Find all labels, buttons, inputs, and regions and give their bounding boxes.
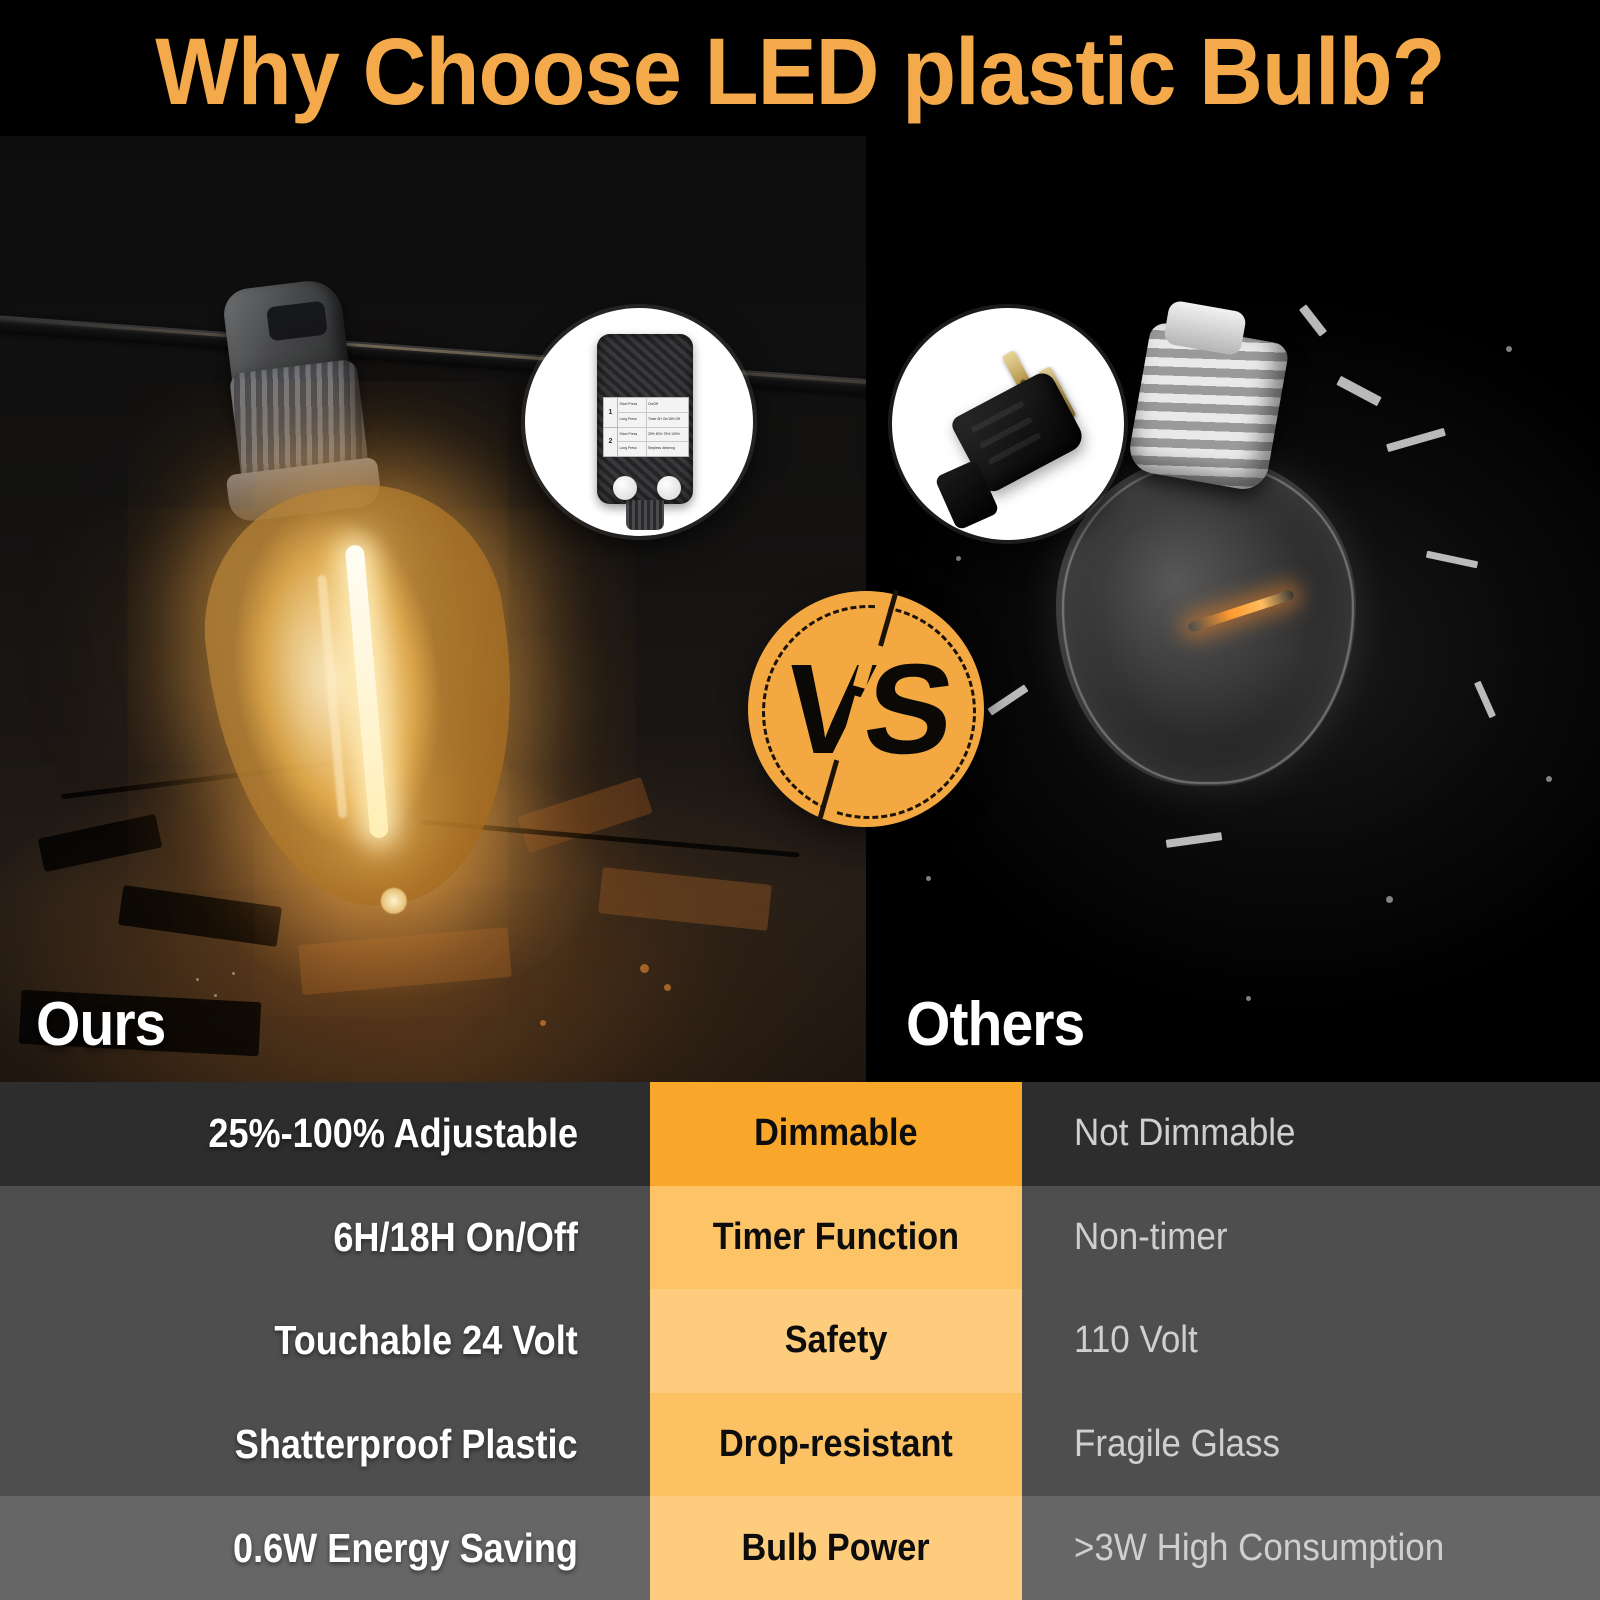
feature-cell: Safety xyxy=(650,1289,1022,1393)
remote-label-table: 1 2 Short Press On/Off Long Press Timer … xyxy=(603,397,689,457)
ember-dot xyxy=(640,964,649,973)
ours-label: Ours xyxy=(36,989,165,1060)
feature-cell: Bulb Power xyxy=(650,1496,1022,1600)
remote-button-2[interactable] xyxy=(657,476,681,500)
glass-dust xyxy=(956,556,961,561)
remote-press-action: Stepless dimming xyxy=(647,442,689,456)
ours-photo-panel: Ours xyxy=(0,136,866,1082)
table-row: 0.6W Energy Saving Bulb Power >3W High C… xyxy=(0,1496,1600,1600)
others-value: Non-timer xyxy=(1074,1216,1227,1259)
remote-press-action: On/Off xyxy=(647,398,689,412)
remote-button-mark-2: 2 xyxy=(666,463,669,469)
glass-dust xyxy=(1546,776,1552,782)
remote-button-marks: 1 2 xyxy=(603,458,689,474)
ember-dot xyxy=(540,1020,546,1026)
table-row: 25%-100% Adjustable Dimmable Not Dimmabl… xyxy=(0,1082,1600,1186)
table-row: 6H/18H On/Off Timer Function Non-timer xyxy=(0,1186,1600,1290)
ours-value: 6H/18H On/Off xyxy=(333,1214,578,1261)
table-row: Touchable 24 Volt Safety 110 Volt xyxy=(0,1289,1600,1393)
feature-label: Safety xyxy=(785,1319,888,1362)
feature-label: Timer Function xyxy=(713,1216,959,1259)
two-prong-plug-inset xyxy=(892,308,1124,540)
vs-label: VS xyxy=(731,591,1001,827)
vs-badge: VS xyxy=(748,591,984,827)
remote-press-type: Short Press xyxy=(618,398,647,412)
dust-speck xyxy=(232,972,235,975)
others-cell: >3W High Consumption xyxy=(1022,1496,1600,1600)
feature-label: Dimmable xyxy=(754,1112,917,1155)
remote-label-row: Long Press Stepless dimming xyxy=(618,442,688,456)
feature-label: Drop-resistant xyxy=(719,1423,953,1466)
ours-value: Shatterproof Plastic xyxy=(235,1421,578,1468)
remote-press-type: Long Press xyxy=(618,413,647,427)
glass-dust xyxy=(1386,896,1393,903)
comparison-table: 25%-100% Adjustable Dimmable Not Dimmabl… xyxy=(0,1082,1600,1600)
remote-label-numbers: 1 2 xyxy=(604,398,618,456)
remote-label-rows: Short Press On/Off Long Press Timer 6H O… xyxy=(618,398,688,456)
dust-speck xyxy=(196,978,199,981)
others-value: >3W High Consumption xyxy=(1074,1527,1444,1570)
feature-cell: Timer Function xyxy=(650,1186,1022,1290)
comparison-stage: Ours Others xyxy=(0,136,1600,1082)
remote-control-inset: 1 2 Short Press On/Off Long Press Timer … xyxy=(525,308,753,536)
others-value: Fragile Glass xyxy=(1074,1423,1280,1466)
remote-label-num-1: 1 xyxy=(604,398,617,428)
ours-cell: 25%-100% Adjustable xyxy=(0,1082,650,1186)
ours-cell: 6H/18H On/Off xyxy=(0,1186,650,1290)
ours-value: 25%-100% Adjustable xyxy=(208,1110,578,1157)
remote-button-mark-1: 1 xyxy=(623,463,626,469)
remote-label-row: Short Press 25% 50% 75% 100% xyxy=(618,428,688,443)
others-cell: Not Dimmable xyxy=(1022,1082,1600,1186)
hook-slot xyxy=(266,301,328,342)
feature-cell: Drop-resistant xyxy=(650,1393,1022,1497)
ember-dot xyxy=(664,984,671,991)
feature-cell: Dimmable xyxy=(650,1082,1022,1186)
ours-cell: 0.6W Energy Saving xyxy=(0,1496,650,1600)
remote-label-num-2: 2 xyxy=(604,428,617,457)
others-value: Not Dimmable xyxy=(1074,1112,1295,1155)
remote-label-row: Short Press On/Off xyxy=(618,398,688,413)
glass-dust xyxy=(926,876,931,881)
remote-stem xyxy=(626,500,664,530)
others-cell: Non-timer xyxy=(1022,1186,1600,1290)
remote-press-type: Long Press xyxy=(618,442,647,456)
remote-press-action: 25% 50% 75% 100% xyxy=(647,428,689,442)
glass-dust xyxy=(1246,996,1251,1001)
ours-cell: Touchable 24 Volt xyxy=(0,1289,650,1393)
glass-dust xyxy=(1506,346,1512,352)
page-title: Why Choose LED plastic Bulb? xyxy=(56,18,1544,127)
others-cell: Fragile Glass xyxy=(1022,1393,1600,1497)
remote-press-type: Short Press xyxy=(618,428,647,442)
others-label: Others xyxy=(906,989,1084,1060)
ours-value: Touchable 24 Volt xyxy=(275,1317,578,1364)
remote-press-action: Timer 6H On/18H Off xyxy=(647,413,689,427)
ours-cell: Shatterproof Plastic xyxy=(0,1393,650,1497)
dust-speck xyxy=(214,994,217,997)
table-row: Shatterproof Plastic Drop-resistant Frag… xyxy=(0,1393,1600,1497)
remote-button-1[interactable] xyxy=(613,476,637,500)
led-plastic-bulb xyxy=(186,467,542,925)
infographic-page: Why Choose LED plastic Bulb? xyxy=(0,0,1600,1600)
others-cell: 110 Volt xyxy=(1022,1289,1600,1393)
header-band: Why Choose LED plastic Bulb? xyxy=(0,0,1600,136)
ours-value: 0.6W Energy Saving xyxy=(233,1525,578,1572)
remote-label-row: Long Press Timer 6H On/18H Off xyxy=(618,413,688,428)
feature-label: Bulb Power xyxy=(742,1527,930,1570)
others-value: 110 Volt xyxy=(1074,1319,1198,1362)
